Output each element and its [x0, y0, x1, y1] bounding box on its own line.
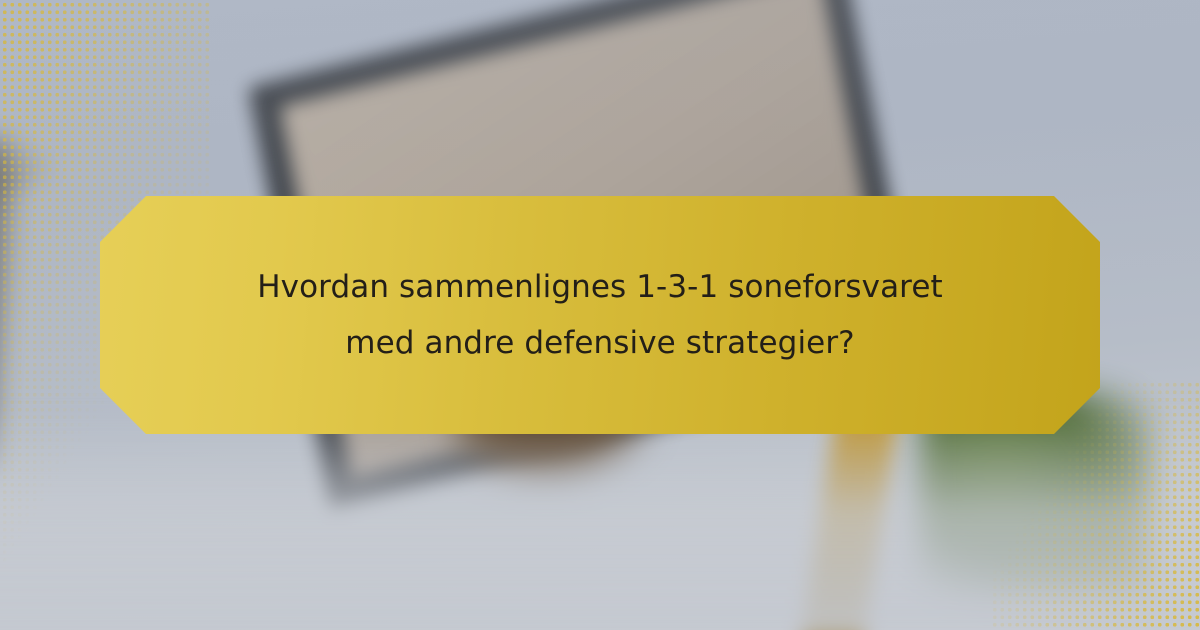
- share-card-canvas: Hvordan sammenlignes 1-3-1 soneforsvaret…: [0, 0, 1200, 630]
- question-card: Hvordan sammenlignes 1-3-1 soneforsvaret…: [100, 196, 1100, 434]
- question-text: Hvordan sammenlignes 1-3-1 soneforsvaret…: [170, 259, 1030, 371]
